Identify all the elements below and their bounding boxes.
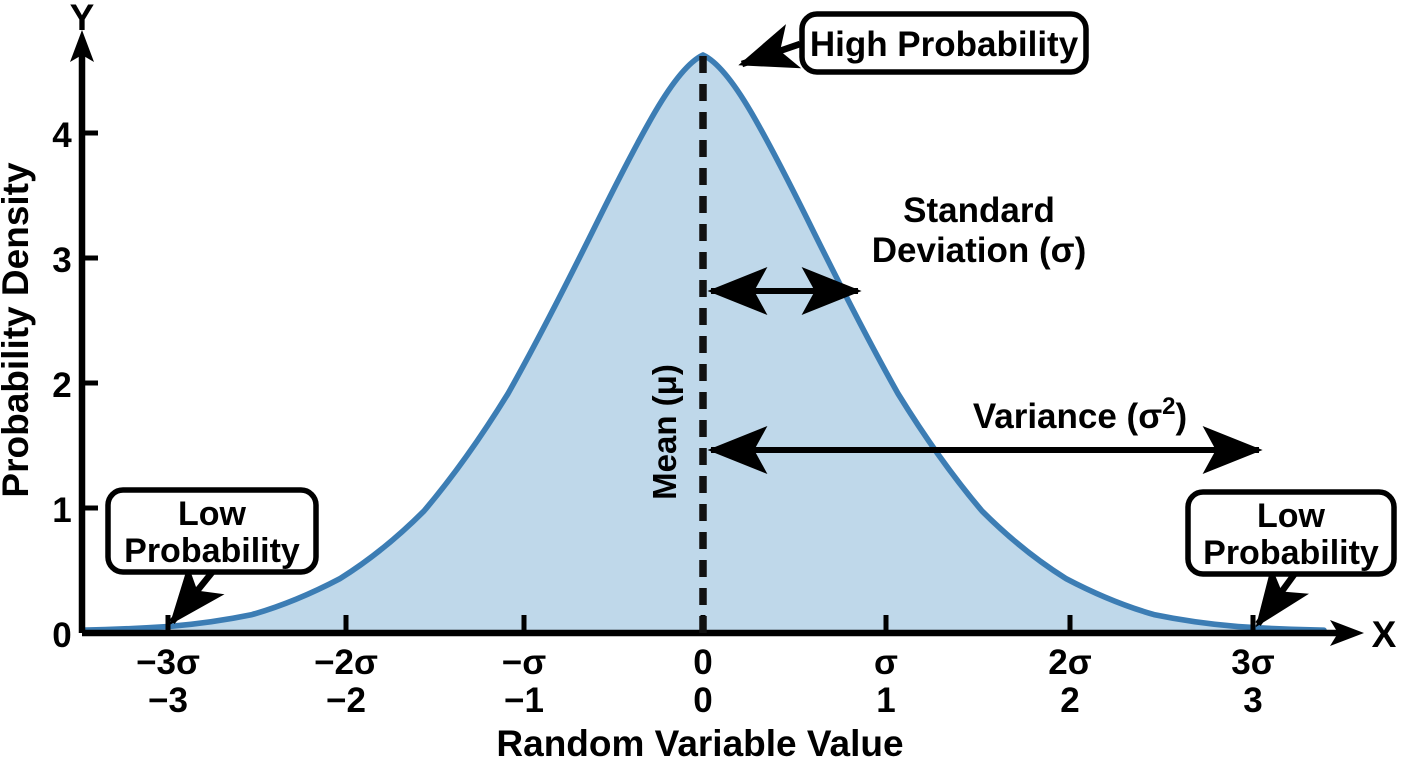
y-tick-label-0: 0 [52,616,71,655]
y-tick-label-4: 4 [52,116,72,155]
y-axis-title: Probability Density [0,162,36,498]
high-probability-arrow [742,44,800,64]
low-probability-left-label-line2: Probability [124,532,300,570]
variance-label-base: Variance (σ [973,397,1162,436]
mean-label: Mean (μ) [646,364,683,500]
low-probability-left-label-line1: Low [178,495,247,533]
standard-deviation-label-line1: Standard [903,191,1055,230]
variance-label: Variance (σ2) [973,393,1187,436]
x-tick-label-num-0: −3 [148,681,188,720]
x-tick-label-num-4: 1 [876,681,895,720]
x-tick-label-sigma-2: −σ [502,643,546,682]
low-probability-right-callout[interactable]: Low Probability [1188,492,1394,624]
x-tick-labels-numeric: −3 −2 −1 0 1 2 3 [148,681,1263,720]
low-probability-right-label-line1: Low [1257,497,1326,535]
x-tick-label-sigma-1: −2σ [314,643,378,682]
x-axis-letter: X [1372,614,1397,655]
x-tick-label-num-2: −1 [504,681,544,720]
low-probability-left-arrow [172,570,214,622]
high-probability-callout[interactable]: High Probability [742,14,1086,72]
x-tick-labels-sigma: −3σ −2σ −σ 0 σ 2σ 3σ [136,643,1275,682]
x-tick-label-sigma-4: σ [874,643,898,682]
normal-distribution-figure: Y X 0 1 2 3 4 −3σ −2σ −σ 0 σ 2σ 3σ −3 −2… [0,0,1408,768]
chart-canvas: Y X 0 1 2 3 4 −3σ −2σ −σ 0 σ 2σ 3σ −3 −2… [0,0,1408,768]
variance-label-exponent: 2 [1162,393,1175,420]
low-probability-right-arrow [1258,572,1296,624]
x-tick-label-sigma-0: −3σ [136,643,200,682]
x-tick-label-sigma-3: 0 [693,643,712,682]
x-tick-label-num-6: 3 [1243,681,1262,720]
x-tick-label-num-3: 0 [693,681,712,720]
standard-deviation-label-line2: Deviation (σ) [872,231,1087,270]
x-tick-label-num-5: 2 [1060,681,1079,720]
y-axis-letter: Y [70,0,95,38]
high-probability-label: High Probability [810,25,1079,64]
y-tick-labels: 0 1 2 3 4 [52,116,72,655]
variance-label-close: ) [1176,397,1188,436]
x-tick-label-sigma-5: 2σ [1048,643,1091,682]
y-tick-label-3: 3 [52,241,71,280]
x-tick-label-sigma-6: 3σ [1231,643,1274,682]
x-tick-label-num-1: −2 [326,681,366,720]
low-probability-right-label-line2: Probability [1203,534,1379,572]
y-tick-label-1: 1 [52,491,71,530]
y-tick-label-2: 2 [52,366,71,405]
x-axis-title: Random Variable Value [496,723,903,764]
